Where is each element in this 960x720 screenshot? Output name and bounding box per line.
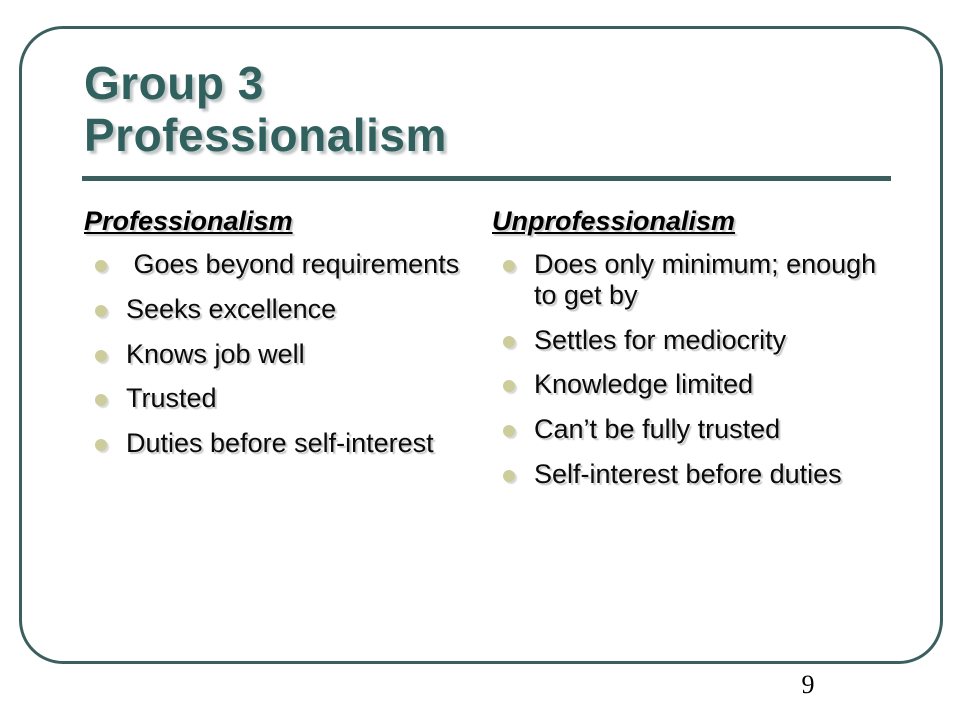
list-item: Duties before self-interest — [84, 428, 490, 459]
bullet-dot-icon — [95, 305, 107, 317]
column-unprofessionalism: Unprofessionalism Does only minimum; eno… — [490, 206, 896, 504]
slide-title-block: Group 3 Professionalism — [84, 58, 894, 161]
list-item: Self-interest before duties — [492, 459, 896, 490]
list-item: Knowledge limited — [492, 369, 896, 400]
list-item: Seeks excellence — [84, 294, 490, 325]
list-item: Settles for mediocrity — [492, 325, 896, 356]
list-item-label: Knows job well — [126, 339, 305, 369]
list-item-label: Seeks excellence — [126, 294, 336, 324]
list-item: Goes beyond requirements — [84, 249, 490, 280]
page-title: Group 3 Professionalism — [84, 58, 894, 161]
list-item: Does only minimum; enough to get by — [492, 249, 896, 311]
presentation-slide: Group 3 Professionalism Professionalism … — [0, 0, 960, 720]
list-item-label: Goes beyond requirements — [126, 249, 459, 279]
bullet-dot-icon — [503, 260, 515, 272]
bullet-dot-icon — [503, 336, 515, 348]
list-item-label: Can’t be fully trusted — [534, 414, 780, 444]
bullet-dot-icon — [95, 394, 107, 406]
bullet-dot-icon — [503, 425, 515, 437]
list-item-label: Duties before self-interest — [126, 428, 434, 458]
bullet-dot-icon — [95, 260, 107, 272]
title-divider — [82, 176, 891, 181]
list-item-label: Trusted — [126, 383, 217, 413]
list-item: Can’t be fully trusted — [492, 414, 896, 445]
bullet-dot-icon — [95, 350, 107, 362]
column-heading-professionalism: Professionalism — [84, 206, 293, 237]
bullet-dot-icon — [503, 470, 515, 482]
list-item: Trusted — [84, 383, 490, 414]
bullet-list-professionalism: Goes beyond requirements Seeks excellenc… — [84, 249, 490, 459]
list-item-label: Self-interest before duties — [534, 459, 842, 489]
list-item-label: Knowledge limited — [534, 369, 753, 399]
bullet-dot-icon — [95, 439, 107, 451]
column-professionalism: Professionalism Goes beyond requirements… — [84, 206, 490, 473]
column-heading-unprofessionalism: Unprofessionalism — [492, 206, 735, 237]
list-item-label: Settles for mediocrity — [534, 325, 786, 355]
bullet-dot-icon — [503, 380, 515, 392]
list-item-label: Does only minimum; enough to get by — [534, 249, 884, 310]
slide-body-columns: Professionalism Goes beyond requirements… — [84, 206, 896, 504]
list-item: Knows job well — [84, 339, 490, 370]
bullet-list-unprofessionalism: Does only minimum; enough to get by Sett… — [492, 249, 896, 490]
page-number: 9 — [788, 670, 828, 700]
